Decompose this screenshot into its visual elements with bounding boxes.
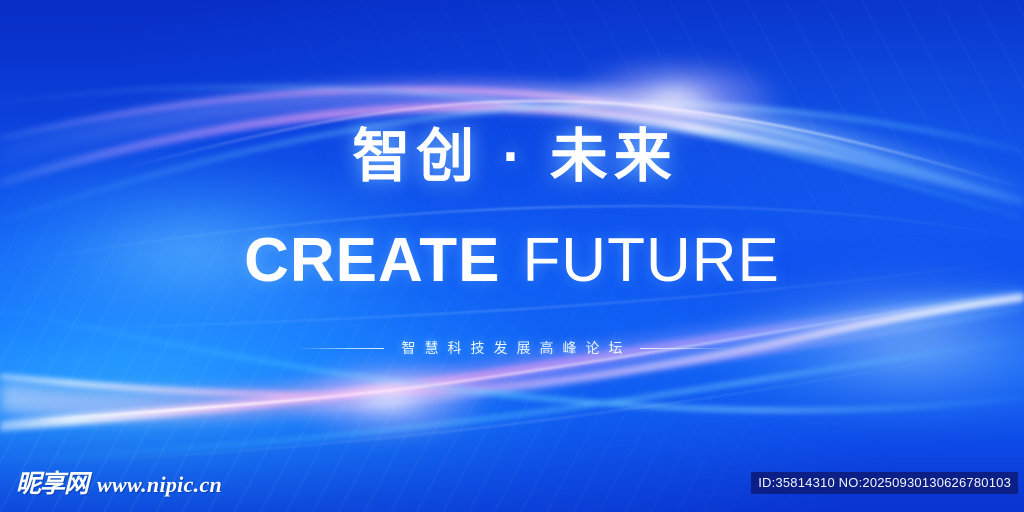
banner-content: 智创 · 未来 CREATEFUTURE 智慧科技发展高峰论坛 昵享网 www.… — [0, 0, 1024, 512]
watermark: 昵享网 www.nipic.cn — [16, 464, 222, 500]
banner-subtitle-chinese: 智慧科技发展高峰论坛 — [0, 339, 1024, 357]
image-id-badge: ID:35814310 NO:20250930130626780103 — [751, 472, 1018, 494]
banner-title-english: CREATEFUTURE — [0, 228, 1024, 294]
banner-canvas: 智创 · 未来 CREATEFUTURE 智慧科技发展高峰论坛 昵享网 www.… — [0, 0, 1024, 512]
watermark-site-url: www.nipic.cn — [97, 472, 222, 498]
watermark-site-name: 昵享网 — [16, 464, 88, 500]
banner-title-english-secondary: FUTURE — [522, 226, 779, 295]
banner-title-chinese: 智创 · 未来 — [0, 126, 1024, 188]
banner-title-english-primary: CREATE — [244, 226, 500, 295]
